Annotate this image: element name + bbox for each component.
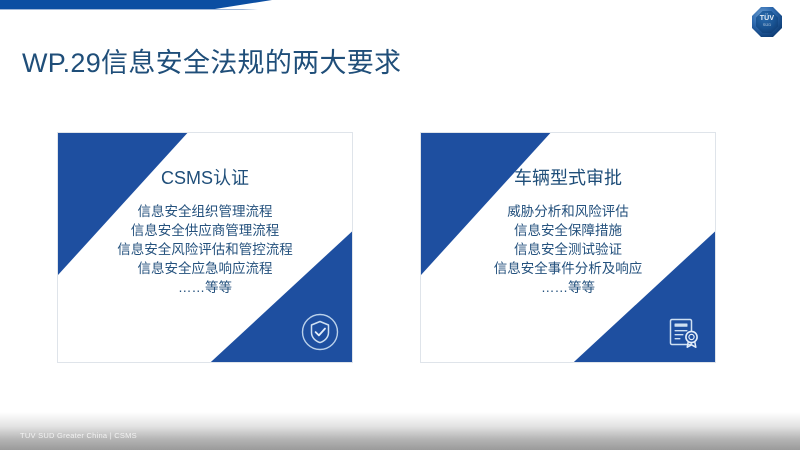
footer-text: TUV SUD Greater China | CSMS — [20, 431, 137, 440]
slide-canvas: TÜV SÜD WP.29信息安全法规的两大要求 CSMS认证 信息安全组织管理… — [0, 0, 800, 450]
tuv-sud-logo: TÜV SÜD — [752, 7, 782, 37]
list-item: 威胁分析和风险评估 — [421, 202, 715, 221]
card-content: 车辆型式审批 威胁分析和风险评估 信息安全保障措施 信息安全测试验证 信息安全事… — [421, 133, 715, 362]
shield-check-icon — [300, 312, 340, 352]
page-title: WP.29信息安全法规的两大要求 — [22, 41, 401, 80]
card-csms-certification: CSMS认证 信息安全组织管理流程 信息安全供应商管理流程 信息安全风险评估和管… — [57, 132, 353, 363]
logo-mark-subtext: SÜD — [752, 23, 782, 27]
list-item: 信息安全应急响应流程 — [58, 259, 352, 278]
logo-mark-text: TÜV — [752, 15, 782, 22]
top-accent-band — [0, 0, 272, 9]
list-item: ……等等 — [58, 278, 352, 297]
list-item: ……等等 — [421, 278, 715, 297]
card-title: CSMS认证 — [58, 164, 352, 190]
card-content: CSMS认证 信息安全组织管理流程 信息安全供应商管理流程 信息安全风险评估和管… — [58, 133, 352, 362]
card-item-list: 威胁分析和风险评估 信息安全保障措施 信息安全测试验证 信息安全事件分析及响应 … — [421, 202, 715, 297]
card-item-list: 信息安全组织管理流程 信息安全供应商管理流程 信息安全风险评估和管控流程 信息安… — [58, 202, 352, 297]
card-vehicle-type-approval: 车辆型式审批 威胁分析和风险评估 信息安全保障措施 信息安全测试验证 信息安全事… — [420, 132, 716, 363]
list-item: 信息安全测试验证 — [421, 240, 715, 259]
list-item: 信息安全供应商管理流程 — [58, 221, 352, 240]
card-title: 车辆型式审批 — [421, 164, 715, 190]
list-item: 信息安全保障措施 — [421, 221, 715, 240]
top-accent-hairline — [0, 9, 258, 10]
list-item: 信息安全事件分析及响应 — [421, 259, 715, 278]
list-item: 信息安全风险评估和管控流程 — [58, 240, 352, 259]
certificate-award-icon — [663, 312, 703, 352]
list-item: 信息安全组织管理流程 — [58, 202, 352, 221]
